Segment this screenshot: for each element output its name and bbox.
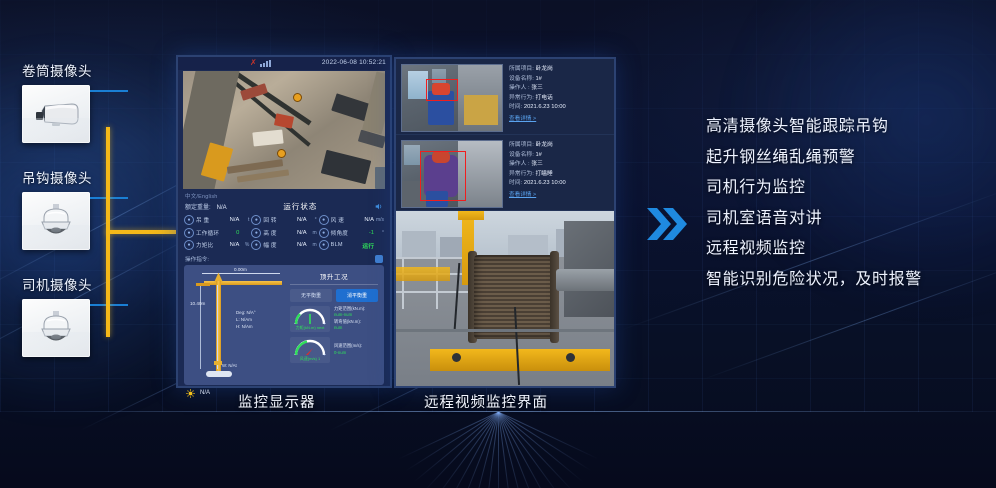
crane-readouts: Deg: N/A° L: N/Am H: N/Am bbox=[236, 309, 256, 330]
crane-counter-jib bbox=[196, 283, 210, 286]
height-axis bbox=[200, 285, 201, 369]
alert-device-key: 设备名称: bbox=[509, 76, 534, 82]
metric-unit: m bbox=[309, 230, 317, 236]
alert-card[interactable]: 所属项目: 卧龙岗 设备名称: 1# 操作人 : 张三 异常行为: 打电话 时间… bbox=[396, 59, 614, 135]
metric-range-icon: ●幅 度N/Am bbox=[251, 239, 316, 252]
camera-lead-0 bbox=[90, 90, 128, 92]
feature-item: 司机行为监控 bbox=[706, 173, 991, 204]
alert-behavior-key: 异常行为: bbox=[509, 95, 534, 101]
alert-project-key: 所属项目: bbox=[509, 66, 534, 72]
feature-item: 智能识别危险状况，及时报警 bbox=[706, 265, 991, 296]
alert-time-key: 时间: bbox=[509, 104, 522, 110]
metric-unit: m/s bbox=[376, 217, 384, 223]
alert-time-value: 2021.6.23 10:00 bbox=[524, 104, 566, 110]
moment-extra-value: num bbox=[334, 325, 365, 331]
gear-icon[interactable] bbox=[186, 389, 195, 398]
crane-hoist-rope bbox=[217, 285, 218, 369]
metric-rotate-icon: ●回 转N/A° bbox=[251, 214, 316, 227]
alert-behavior-value: 打瞌睡 bbox=[535, 171, 552, 177]
metric-blm-icon: ●BLM运行 bbox=[319, 239, 384, 252]
message-icon[interactable] bbox=[375, 255, 383, 263]
metric-wind-icon: ●风 速N/Am/s bbox=[319, 214, 384, 227]
tab-with-counterweight[interactable]: 消平衡重 bbox=[336, 289, 378, 302]
camera-group-2: 司机摄像头 bbox=[0, 274, 140, 357]
metric-unit: t bbox=[241, 217, 249, 223]
rated-weight-label: 额定重量: bbox=[185, 205, 211, 211]
metric-value: N/A bbox=[364, 217, 374, 223]
camera-label-0: 卷筒摄像头 bbox=[0, 60, 140, 80]
blm-icon: ● bbox=[319, 240, 329, 250]
signal-bars-icon bbox=[260, 59, 271, 67]
alert-device-value: 1# bbox=[535, 152, 541, 158]
metric-label: 倾角度 bbox=[331, 229, 348, 237]
monitor-header-row: 额定重量:N/A 运行状态 bbox=[185, 201, 383, 212]
command-label: 操作指令: bbox=[185, 255, 209, 263]
metric-label: 吊 重 bbox=[196, 216, 209, 224]
alert-behavior-value: 打电话 bbox=[535, 95, 552, 101]
gauge-row-moment: - + 力矩(kN.m) next 力矩范围(kN.m): num-num 转弯… bbox=[290, 306, 378, 332]
floor-line bbox=[498, 412, 499, 488]
crane-base bbox=[206, 371, 232, 377]
alert-device-key: 设备名称: bbox=[509, 152, 534, 158]
cycle-icon: ● bbox=[184, 228, 194, 238]
winch-live-view[interactable] bbox=[396, 211, 614, 386]
condition-title: 顶升工况 bbox=[288, 271, 380, 281]
moment-gauge: - + 力矩(kN.m) next bbox=[290, 306, 330, 332]
speaker-icon[interactable] bbox=[374, 202, 383, 211]
alert-time-key: 时间: bbox=[509, 180, 522, 186]
wind-range-value: 0-num bbox=[334, 350, 362, 356]
height-icon: ● bbox=[251, 228, 261, 238]
metric-value: N/A bbox=[230, 242, 240, 248]
metric-label: 工作循环 bbox=[196, 229, 219, 237]
feature-list: 高清摄像头智能跟踪吊钩起升钢丝绳乱绳预警司机行为监控司机室语音对讲远程视频监控智… bbox=[706, 112, 991, 295]
caption-video: 远程视频监控界面 bbox=[424, 391, 548, 412]
crane-load-label: W: N/At bbox=[222, 363, 237, 368]
crane-load-block bbox=[214, 361, 222, 365]
moment-extra-title: 转弯值(kN.m): bbox=[334, 319, 365, 325]
camera-list: 卷筒摄像头 吊钩摄像头 bbox=[0, 60, 140, 375]
metric-value: -1 bbox=[369, 230, 374, 236]
metric-value: N/A bbox=[297, 242, 307, 248]
alert-device-value: 1# bbox=[535, 76, 541, 82]
span-line bbox=[202, 273, 280, 274]
slide-root: 卷筒摄像头 吊钩摄像头 bbox=[0, 0, 996, 488]
alert-operator-key: 操作人 : bbox=[509, 161, 530, 167]
camera-label-2: 司机摄像头 bbox=[0, 274, 140, 294]
floor-line bbox=[498, 412, 574, 488]
alert-thumbnail[interactable] bbox=[401, 140, 503, 208]
moment-gauge-label: 力矩(kN.m) next bbox=[290, 325, 330, 331]
moment-ranges: 力矩范围(kN.m): num-num 转弯值(kN.m): num bbox=[334, 306, 365, 332]
metric-grid: ●吊 重N/At●回 转N/A°●风 速N/Am/s●工作循环0●高 度N/Am… bbox=[184, 214, 384, 252]
alert-project-value: 卧龙岗 bbox=[535, 66, 552, 72]
crane-schematic: 0.00m 10.40m Deg: N/A° L: N/Am H: N/Am W… bbox=[188, 271, 284, 381]
metric-label: 高 度 bbox=[263, 229, 276, 237]
feature-item: 高清摄像头智能跟踪吊钩 bbox=[706, 112, 991, 143]
wind-gauge: - + 风速(m/s) 1 bbox=[290, 337, 330, 363]
height-label: 10.40m bbox=[190, 301, 205, 306]
metric-unit: ° bbox=[309, 217, 317, 223]
alert-project-key: 所属项目: bbox=[509, 142, 534, 148]
wind-ranges: 风速范围(m/s): 0-num bbox=[334, 343, 362, 356]
signal-x-icon: ✗ bbox=[250, 59, 257, 67]
alert-project-value: 卧龙岗 bbox=[535, 142, 552, 148]
alert-operator-value: 张三 bbox=[531, 85, 543, 91]
language-toggle[interactable]: 中文/English bbox=[185, 192, 390, 200]
hook-icon: ● bbox=[184, 215, 194, 225]
metric-label: 回 转 bbox=[263, 216, 276, 224]
chevron-right-icon bbox=[645, 205, 689, 243]
rotate-icon: ● bbox=[251, 215, 261, 225]
camera-reflection-2 bbox=[22, 332, 90, 354]
span-label: 0.00m bbox=[232, 267, 249, 272]
moment-icon: ● bbox=[184, 240, 194, 250]
alert-operator-key: 操作人 : bbox=[509, 85, 530, 91]
camera-group-0: 卷筒摄像头 bbox=[0, 60, 140, 143]
remote-video-panel[interactable]: 所属项目: 卧龙岗 设备名称: 1# 操作人 : 张三 异常行为: 打电话 时间… bbox=[394, 57, 616, 388]
monitor-statusbar: ✗ 2022-06-08 10:52:21 bbox=[178, 57, 390, 70]
floor-line bbox=[413, 412, 498, 483]
metric-tilt-icon: ●倾角度-1° bbox=[319, 227, 384, 240]
metric-label: 幅 度 bbox=[263, 241, 276, 249]
crane-l: L: N/Am bbox=[236, 316, 256, 323]
metric-value: N/A bbox=[297, 217, 307, 223]
alert-operator-value: 张三 bbox=[531, 161, 543, 167]
metric-hook-icon: ●吊 重N/At bbox=[184, 214, 249, 227]
rated-weight: 额定重量:N/A bbox=[185, 202, 227, 211]
metric-value: 0 bbox=[236, 230, 239, 236]
tilt-icon: ● bbox=[319, 228, 329, 238]
tab-no-counterweight[interactable]: 无平衡重 bbox=[290, 289, 332, 302]
alert-behavior-key: 异常行为: bbox=[509, 171, 534, 177]
caption-monitor: 监控显示器 bbox=[238, 391, 316, 412]
metric-unit: % bbox=[241, 242, 249, 248]
crane-h: H: N/Am bbox=[236, 323, 256, 330]
monitor-footer-value: N/A bbox=[200, 390, 210, 396]
range-icon: ● bbox=[251, 240, 261, 250]
feature-item: 司机室语音对讲 bbox=[706, 204, 991, 235]
alert-details: 所属项目: 卧龙岗 设备名称: 1# 操作人 : 张三 异常行为: 打瞌睡 时间… bbox=[509, 140, 609, 206]
metric-value: 运行 bbox=[362, 241, 374, 250]
monitor-live-view[interactable] bbox=[183, 71, 385, 189]
metric-label: 力矩比 bbox=[196, 241, 213, 249]
rated-weight-value: N/A bbox=[217, 205, 227, 211]
alert-details: 所属项目: 卧龙岗 设备名称: 1# 操作人 : 张三 异常行为: 打电话 时间… bbox=[509, 64, 609, 130]
feature-item: 远程视频监控 bbox=[706, 234, 991, 265]
alert-detail-link[interactable]: 查看详情 > bbox=[509, 191, 536, 201]
alert-detail-link[interactable]: 查看详情 > bbox=[509, 115, 536, 125]
monitor-display[interactable]: ✗ 2022-06-08 10:52:21 中文/English bbox=[176, 55, 392, 388]
alert-card[interactable]: 所属项目: 卧龙岗 设备名称: 1# 操作人 : 张三 异常行为: 打瞌睡 时间… bbox=[396, 135, 614, 211]
camera-reflection-0 bbox=[22, 118, 90, 140]
camera-reflection-1 bbox=[22, 225, 90, 247]
metric-moment-icon: ●力矩比N/A% bbox=[184, 239, 249, 252]
condition-panel: 顶升工况 无平衡重 消平衡重 - + 力矩 bbox=[288, 269, 380, 381]
condition-tabs: 无平衡重 消平衡重 bbox=[290, 289, 378, 302]
crane-diagram-panel: 0.00m 10.40m Deg: N/A° L: N/Am H: N/Am W… bbox=[184, 265, 384, 385]
alert-thumbnail[interactable] bbox=[401, 64, 503, 132]
gauge-row-wind: - + 风速(m/s) 1 风速范围(m/s): 0-num bbox=[290, 337, 378, 363]
monitor-timestamp: 2022-06-08 10:52:21 bbox=[322, 59, 386, 66]
crane-deg: Deg: N/A° bbox=[236, 309, 256, 316]
perspective-floor bbox=[0, 412, 996, 488]
command-row: 操作指令: bbox=[185, 255, 383, 263]
status-title: 运行状态 bbox=[227, 201, 374, 212]
wind-range-title: 风速范围(m/s): bbox=[334, 343, 362, 349]
metric-unit: m bbox=[309, 242, 317, 248]
metric-label: 风 速 bbox=[331, 216, 344, 224]
camera-label-1: 吊钩摄像头 bbox=[0, 167, 140, 187]
wind-icon: ● bbox=[319, 215, 329, 225]
metric-height-icon: ●高 度N/Am bbox=[251, 227, 316, 240]
metric-value: N/A bbox=[230, 217, 240, 223]
metric-unit: ° bbox=[376, 230, 384, 236]
divider bbox=[290, 284, 378, 285]
metric-label: BLM bbox=[331, 242, 343, 248]
metric-value: N/A bbox=[297, 230, 307, 236]
feature-item: 起升钢丝绳乱绳预警 bbox=[706, 143, 991, 174]
alert-time-value: 2021.6.23 10:00 bbox=[524, 180, 566, 186]
metric-cycle-icon: ●工作循环0 bbox=[184, 227, 249, 240]
camera-group-1: 吊钩摄像头 bbox=[0, 167, 140, 250]
wind-gauge-label: 风速(m/s) 1 bbox=[290, 356, 330, 362]
bus-horizontal bbox=[106, 230, 178, 234]
